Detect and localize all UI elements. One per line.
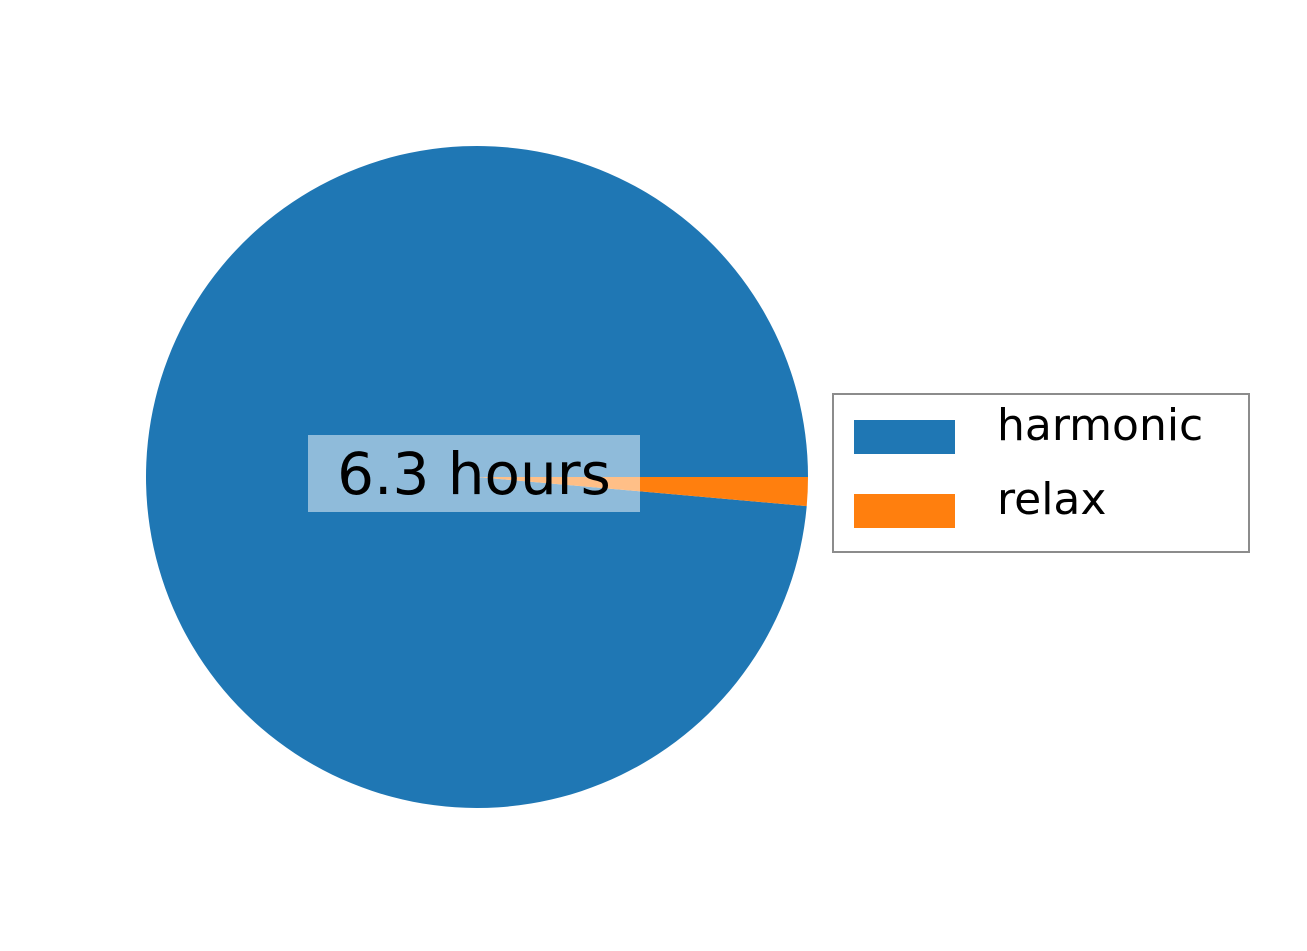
- legend-swatch-relax: [854, 494, 955, 528]
- chart-legend: harmonic relax: [832, 393, 1250, 553]
- legend-label-harmonic: harmonic: [997, 404, 1203, 448]
- pie-chart-figure: 6.3 hours harmonic relax: [0, 0, 1307, 951]
- legend-swatch-harmonic: [854, 420, 955, 454]
- legend-item-relax[interactable]: relax: [834, 490, 1248, 564]
- legend-label-relax: relax: [997, 478, 1106, 522]
- pie-slice-label-harmonic: 6.3 hours: [308, 435, 640, 512]
